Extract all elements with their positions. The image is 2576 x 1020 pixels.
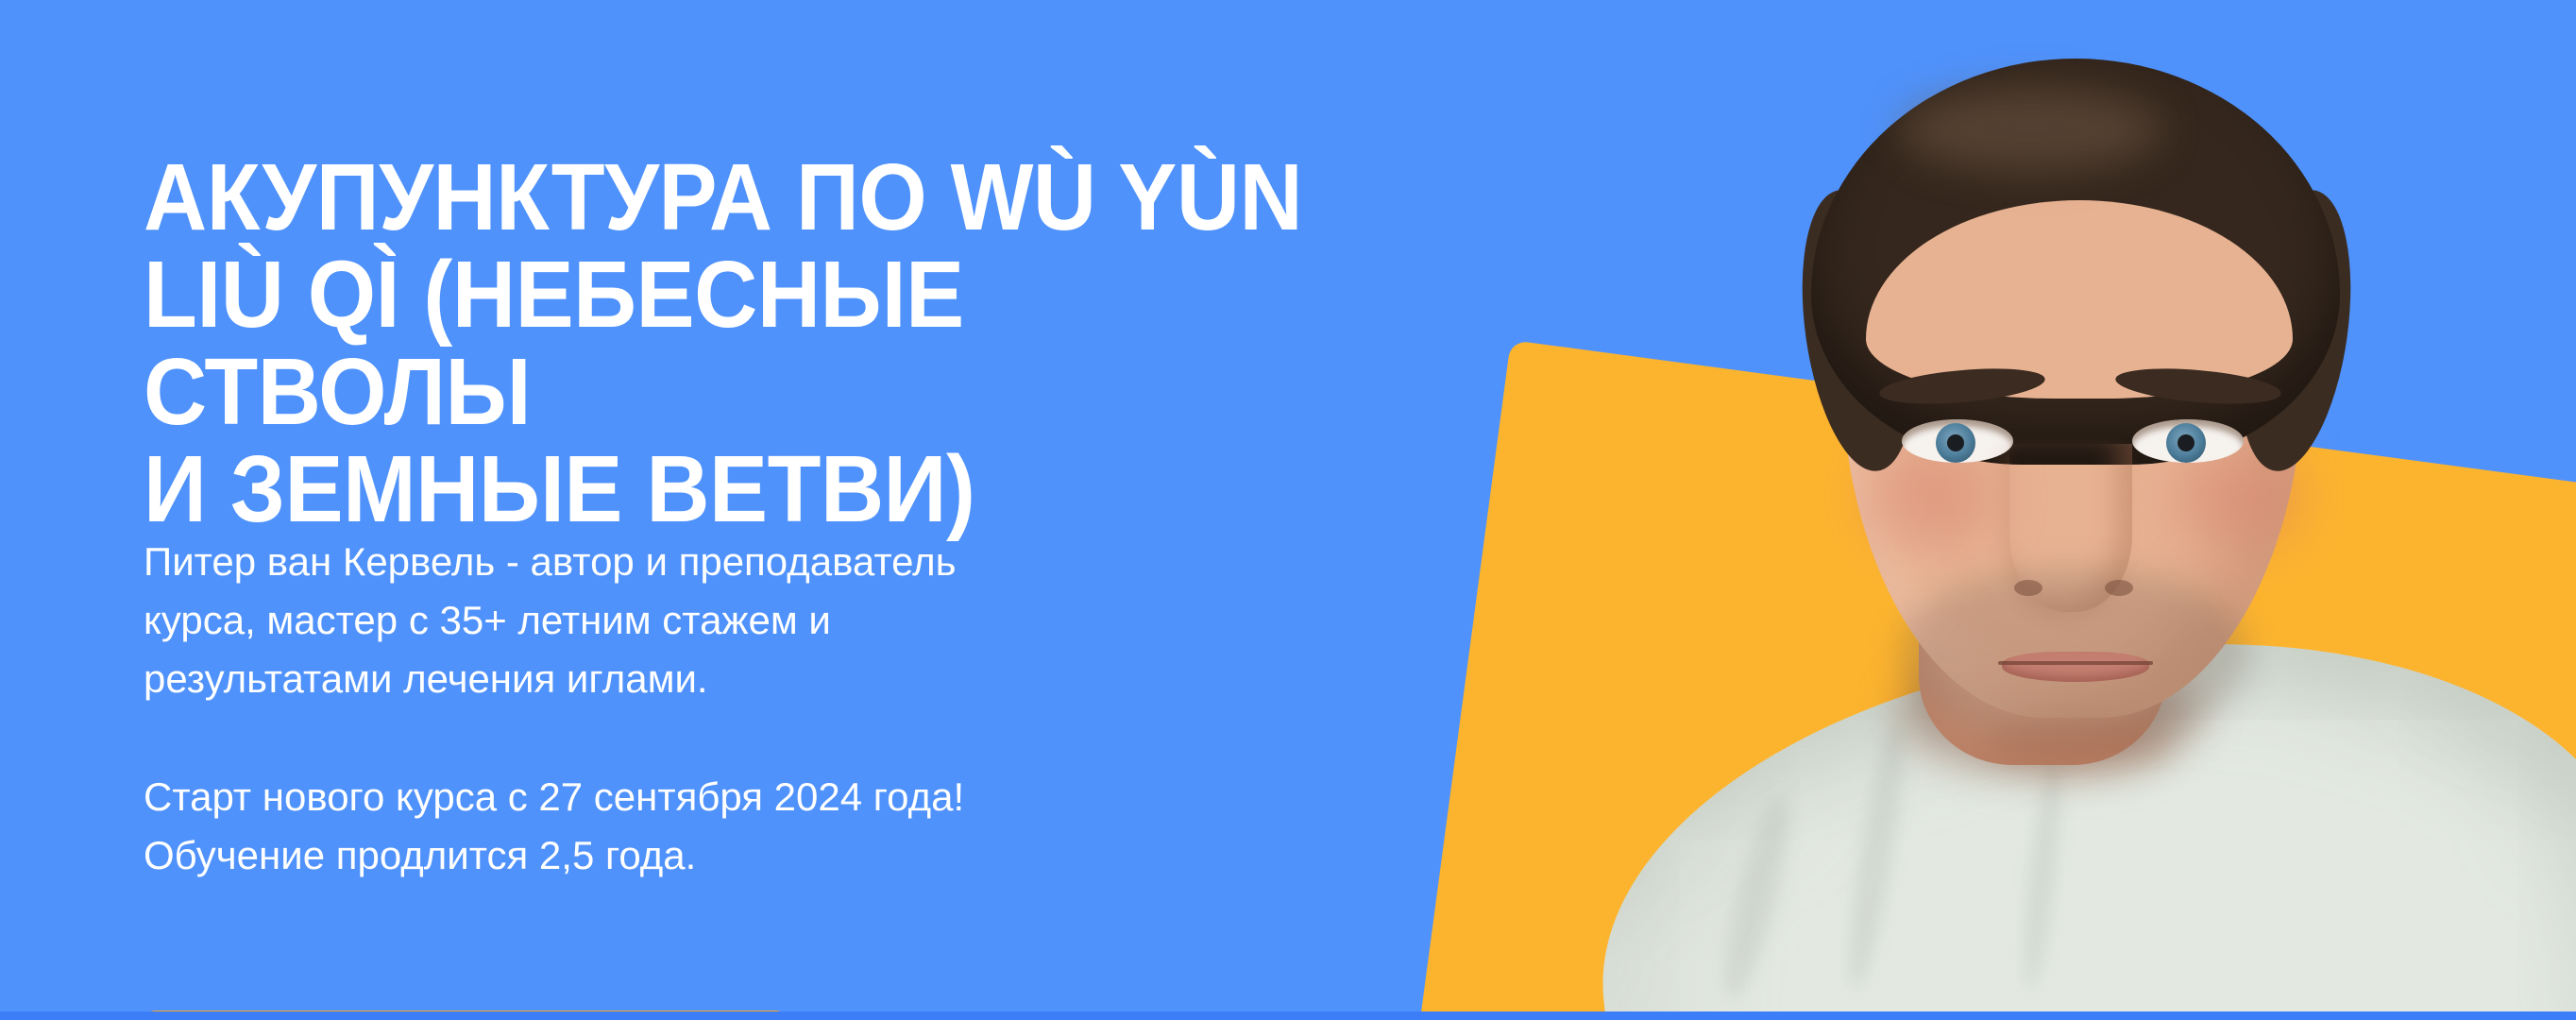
portrait-iris-right	[2166, 423, 2206, 463]
instructor-portrait	[1454, 0, 2576, 1011]
banner-headline: АКУПУНКТУРА ПО WÙ YÙN LIÙ QÌ (НЕБЕСНЫЕ С…	[144, 149, 1303, 538]
banner-content: АКУПУНКТУРА ПО WÙ YÙN LIÙ QÌ (НЕБЕСНЫЕ С…	[144, 0, 1466, 1020]
portrait-eye-right	[2132, 419, 2244, 463]
portrait-iris-left	[1936, 423, 1975, 463]
banner-lede-paragraph: Питер ван Кервель - автор и преподавател…	[144, 533, 1258, 708]
portrait-mouth	[2002, 652, 2149, 682]
bottom-accent-strip	[0, 1011, 2576, 1020]
portrait-eye-left	[1902, 419, 2013, 463]
portrait-chin-shadow	[1983, 718, 2172, 773]
hero-banner: АКУПУНКТУРА ПО WÙ YÙN LIÙ QÌ (НЕБЕСНЫЕ С…	[0, 0, 2576, 1020]
banner-schedule-paragraph: Старт нового курса с 27 сентября 2024 го…	[144, 768, 1258, 885]
portrait-artwork	[1454, 0, 2576, 1011]
portrait-lip-line	[1998, 661, 2153, 665]
portrait-hair-highlight	[1898, 87, 2162, 172]
